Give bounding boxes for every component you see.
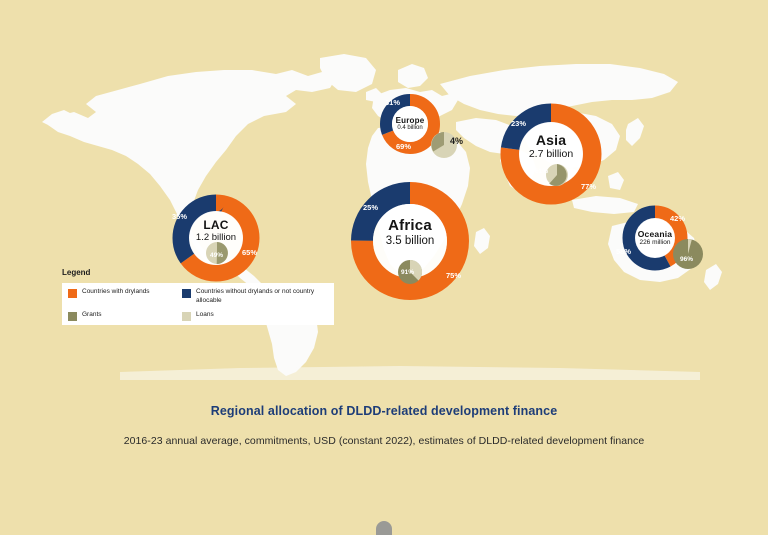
legend-label-grants: Grants (82, 311, 102, 320)
legend-swatch-navy (182, 289, 191, 298)
region-africa[interactable]: Africa 3.5 billion 25% 75% 91% (345, 176, 475, 306)
chart-title: Regional allocation of DLDD-related deve… (0, 404, 768, 418)
lac-grants-loans-pie (206, 242, 228, 264)
legend-item-loans[interactable]: Loans (182, 311, 328, 321)
legend-swatch-orange (68, 289, 77, 298)
legend-swatch-olive (68, 312, 77, 321)
europe-grants-loans-pie-group[interactable]: 4% (430, 128, 470, 162)
caption-block: Regional allocation of DLDD-related deve… (0, 404, 768, 447)
oceania-grants-loans-pie-group[interactable]: 96% (671, 237, 707, 273)
legend-item-grants[interactable]: Grants (68, 311, 176, 321)
legend-label-countries-without-drylands: Countries without drylands or not countr… (196, 288, 328, 306)
europe-donut-hole (392, 106, 428, 142)
chart-subtitle: 2016-23 annual average, commitments, USD… (0, 435, 768, 447)
oceania-donut-hole (635, 218, 675, 258)
footer-decoration (376, 521, 392, 535)
legend-item-countries-with-drylands[interactable]: Countries with drylands (68, 288, 176, 306)
infographic-canvas: Africa 3.5 billion 25% 75% 91% Asia 2.7 … (0, 0, 768, 528)
asia-grants-loans-pie (546, 164, 568, 186)
legend-box: Countries with drylands Countries withou… (62, 283, 334, 325)
legend-swatch-light-olive (182, 312, 191, 321)
africa-grants-loans-pie (398, 260, 422, 284)
legend-title: Legend (62, 268, 90, 277)
region-lac[interactable]: LAC 1.2 billion 35% 65% 49% (168, 190, 264, 286)
legend-label-countries-with-drylands: Countries with drylands (82, 288, 150, 297)
legend-label-loans: Loans (196, 311, 214, 320)
region-asia[interactable]: Asia 2.7 billion 23% 77% 61% (495, 98, 607, 210)
europe-side-pct: 4% (450, 136, 463, 146)
legend-item-countries-without-drylands[interactable]: Countries without drylands or not countr… (182, 288, 328, 306)
